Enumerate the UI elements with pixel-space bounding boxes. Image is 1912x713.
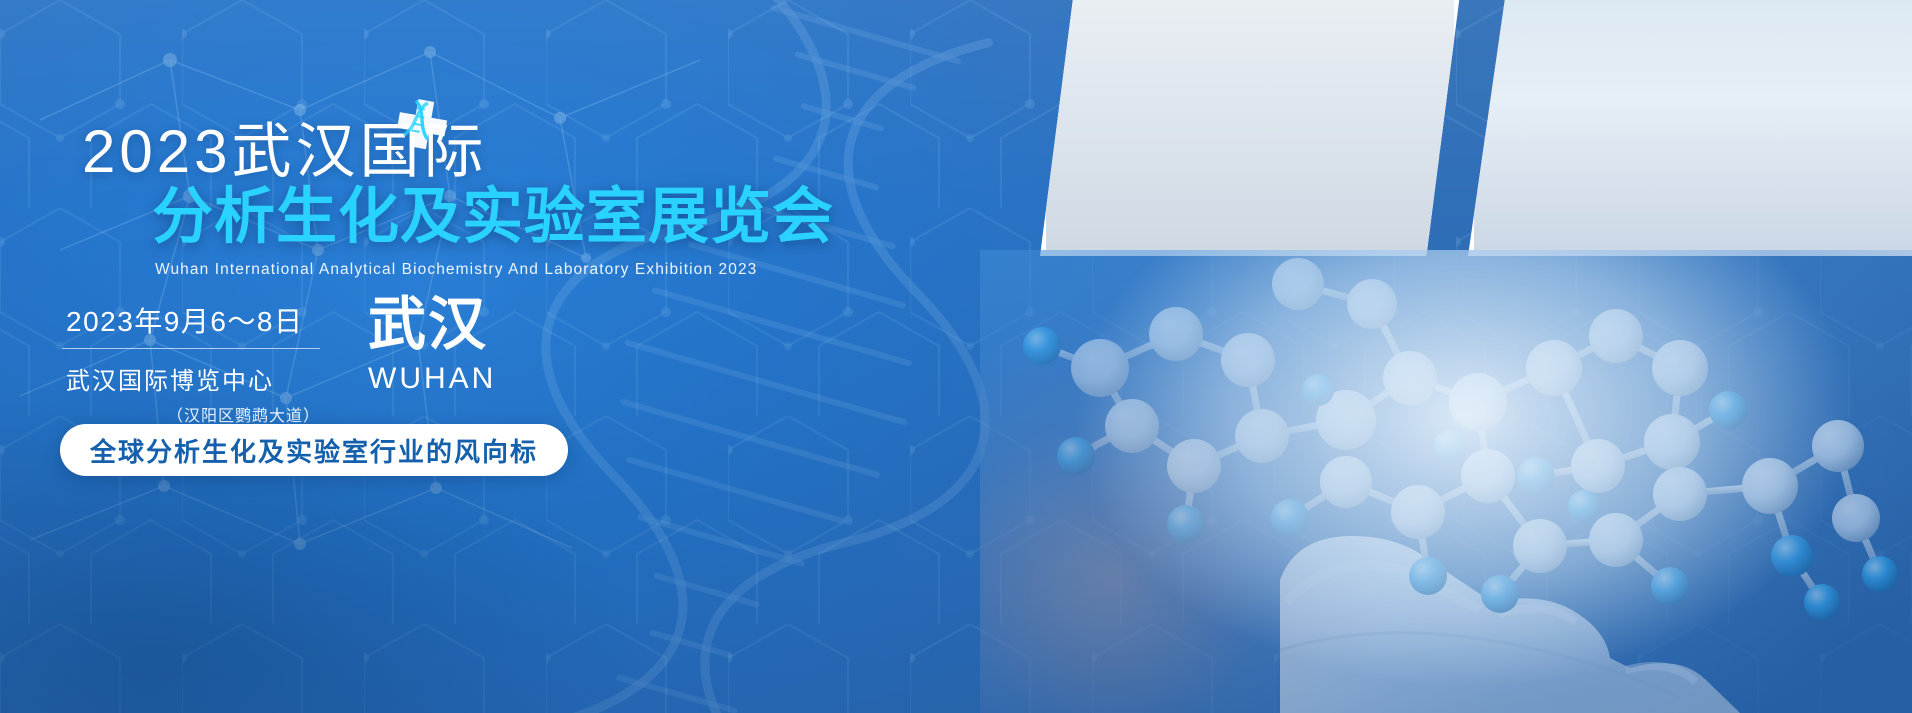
photo-strip: SINOPHARM HOLDING (CHINA) CO.,LTD: [1020, 0, 1912, 262]
exhibition-booth-photo-2: 经典防护系列 戴 手 术 中: [1468, 0, 1912, 256]
page-title-en: Wuhan International Analytical Biochemis…: [155, 262, 757, 278]
exhibition-banner: SINOPHARM HOLDING (CHINA) CO.,LTD: [0, 0, 1912, 713]
exhibition-booth-photo-1: SINOPHARM HOLDING (CHINA) CO.,LTD: [1040, 0, 1460, 256]
medical-cross-dna-icon: [392, 96, 450, 154]
banner-content: 2023武汉国际 分析生化及实验室展览会 Wuhan International…: [0, 0, 880, 713]
event-venue-address: （汉阳区鹦鹉大道）: [62, 402, 320, 426]
date-venue-block: 2023年9月6～8日 武汉国际博览中心 （汉阳区鹦鹉大道）: [62, 300, 362, 426]
divider-rule: [62, 348, 320, 349]
event-date: 2023年9月6～8日: [62, 300, 362, 340]
city-name-en: WUHAN: [368, 364, 496, 394]
event-venue: 武汉国际博览中心: [62, 361, 362, 396]
page-title-cn-line2: 分析生化及实验室展览会: [152, 186, 834, 247]
gloved-hand-molecule-model: [980, 250, 1912, 713]
slogan-pill[interactable]: 全球分析生化及实验室行业的风向标: [60, 424, 568, 476]
slogan-text: 全球分析生化及实验室行业的风向标: [90, 432, 538, 469]
city-block: 武汉 WUHAN: [368, 296, 496, 394]
city-name-cn: 武汉: [368, 296, 496, 354]
